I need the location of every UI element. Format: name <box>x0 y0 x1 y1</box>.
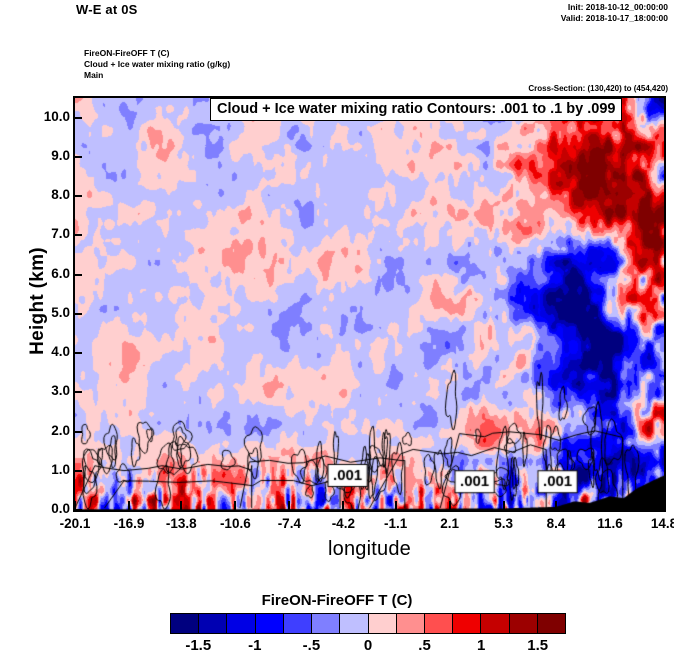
y-tick-mark <box>73 156 82 158</box>
x-tick-mark <box>128 501 130 512</box>
x-tick-label: 2.1 <box>420 516 480 531</box>
colorbar-tick-label: -1.5 <box>168 637 228 654</box>
colorbar-tick-labels: -1.5-1-.50.511.5 <box>170 637 566 659</box>
x-tick-mark <box>609 501 611 512</box>
x-tick-label: -20.1 <box>45 516 105 531</box>
x-tick-mark <box>234 501 236 512</box>
x-tick-label: -7.4 <box>259 516 319 531</box>
colorbar-swatch <box>340 614 368 633</box>
y-tick-label: 10.0 <box>32 109 70 124</box>
colorbar-swatch <box>481 614 509 633</box>
x-tick-label: -1.1 <box>366 516 426 531</box>
x-tick-mark <box>395 501 397 512</box>
y-tick-mark <box>73 470 82 472</box>
colorbar-tick-label: 1 <box>451 637 511 654</box>
x-tick-label: -4.2 <box>313 516 373 531</box>
valid-time: Valid: 2018-10-17_18:00:00 <box>561 13 668 24</box>
x-axis-label: longitude <box>73 538 666 561</box>
y-tick-label: 9.0 <box>32 148 70 163</box>
colorbar-tick-label: 1.5 <box>508 637 568 654</box>
y-tick-label: 5.0 <box>32 305 70 320</box>
y-tick-label: 0.0 <box>32 501 70 516</box>
x-tick-mark <box>288 501 290 512</box>
y-tick-mark <box>73 195 82 197</box>
colorbar-swatch <box>171 614 199 633</box>
colorbar-swatch <box>425 614 453 633</box>
contour-title-box: Cloud + Ice water mixing ratio Contours:… <box>210 98 622 121</box>
colorbar-swatch <box>510 614 538 633</box>
x-tick-label: 5.3 <box>474 516 534 531</box>
y-tick-mark <box>73 391 82 393</box>
variable-line-2: Cloud + Ice water mixing ratio (g/kg) <box>84 59 230 70</box>
y-tick-label: 4.0 <box>32 344 70 359</box>
y-axis-tick-labels: 0.01.02.03.04.05.06.07.08.09.010.0 <box>26 96 70 512</box>
x-tick-mark <box>342 501 344 512</box>
colorbar-swatch <box>199 614 227 633</box>
y-tick-label: 8.0 <box>32 187 70 202</box>
x-tick-label: -10.6 <box>205 516 265 531</box>
colorbar-swatch <box>397 614 425 633</box>
y-tick-mark <box>73 234 82 236</box>
init-time: Init: 2018-10-12_00:00:00 <box>561 2 668 13</box>
variable-line-1: FireON-FireOFF T (C) <box>84 48 230 59</box>
x-tick-mark <box>449 501 451 512</box>
temperature-difference-field <box>75 98 664 510</box>
y-tick-label: 2.0 <box>32 423 70 438</box>
y-tick-mark <box>73 117 82 119</box>
colorbar-swatch <box>312 614 340 633</box>
colorbar-swatch <box>453 614 481 633</box>
y-tick-label: 7.0 <box>32 226 70 241</box>
y-tick-label: 1.0 <box>32 462 70 477</box>
y-tick-label: 3.0 <box>32 383 70 398</box>
run-time-block: Init: 2018-10-12_00:00:00 Valid: 2018-10… <box>561 2 668 24</box>
y-tick-label: 6.0 <box>32 266 70 281</box>
x-axis-tick-labels: -20.1-16.9-13.8-10.6-7.4-4.2-1.12.15.38.… <box>73 514 666 540</box>
page-title: W-E at 0S <box>76 2 138 17</box>
colorbar-tick-label: .5 <box>395 637 455 654</box>
colorbar-tick-label: -1 <box>225 637 285 654</box>
x-tick-mark <box>74 501 76 512</box>
colorbar-swatch <box>256 614 284 633</box>
cross-section-plot <box>73 96 666 512</box>
x-tick-label: 14.8 <box>634 516 674 531</box>
x-tick-label: -16.9 <box>99 516 159 531</box>
colorbar-swatch <box>227 614 255 633</box>
colorbar-tick-label: -.5 <box>281 637 341 654</box>
x-tick-mark <box>663 501 665 512</box>
y-axis-tick-marks <box>73 96 85 512</box>
x-tick-mark <box>555 501 557 512</box>
x-tick-mark <box>180 501 182 512</box>
x-tick-label: 11.6 <box>580 516 640 531</box>
y-tick-mark <box>73 274 82 276</box>
x-tick-label: -13.8 <box>151 516 211 531</box>
x-axis-tick-marks <box>73 500 666 512</box>
variable-description-block: FireON-FireOFF T (C) Cloud + Ice water m… <box>84 48 230 81</box>
variable-line-3: Main <box>84 70 230 81</box>
colorbar <box>170 613 566 634</box>
x-tick-mark <box>503 501 505 512</box>
y-tick-mark <box>73 352 82 354</box>
colorbar-swatch <box>369 614 397 633</box>
colorbar-swatch <box>538 614 565 633</box>
colorbar-tick-label: 0 <box>338 637 398 654</box>
x-tick-label: 8.4 <box>526 516 586 531</box>
colorbar-title: FireON-FireOFF T (C) <box>0 592 674 609</box>
y-tick-mark <box>73 431 82 433</box>
y-tick-mark <box>73 313 82 315</box>
cross-section-endpoints: Cross-Section: (130,420) to (454,420) <box>528 84 668 93</box>
colorbar-swatch <box>284 614 312 633</box>
